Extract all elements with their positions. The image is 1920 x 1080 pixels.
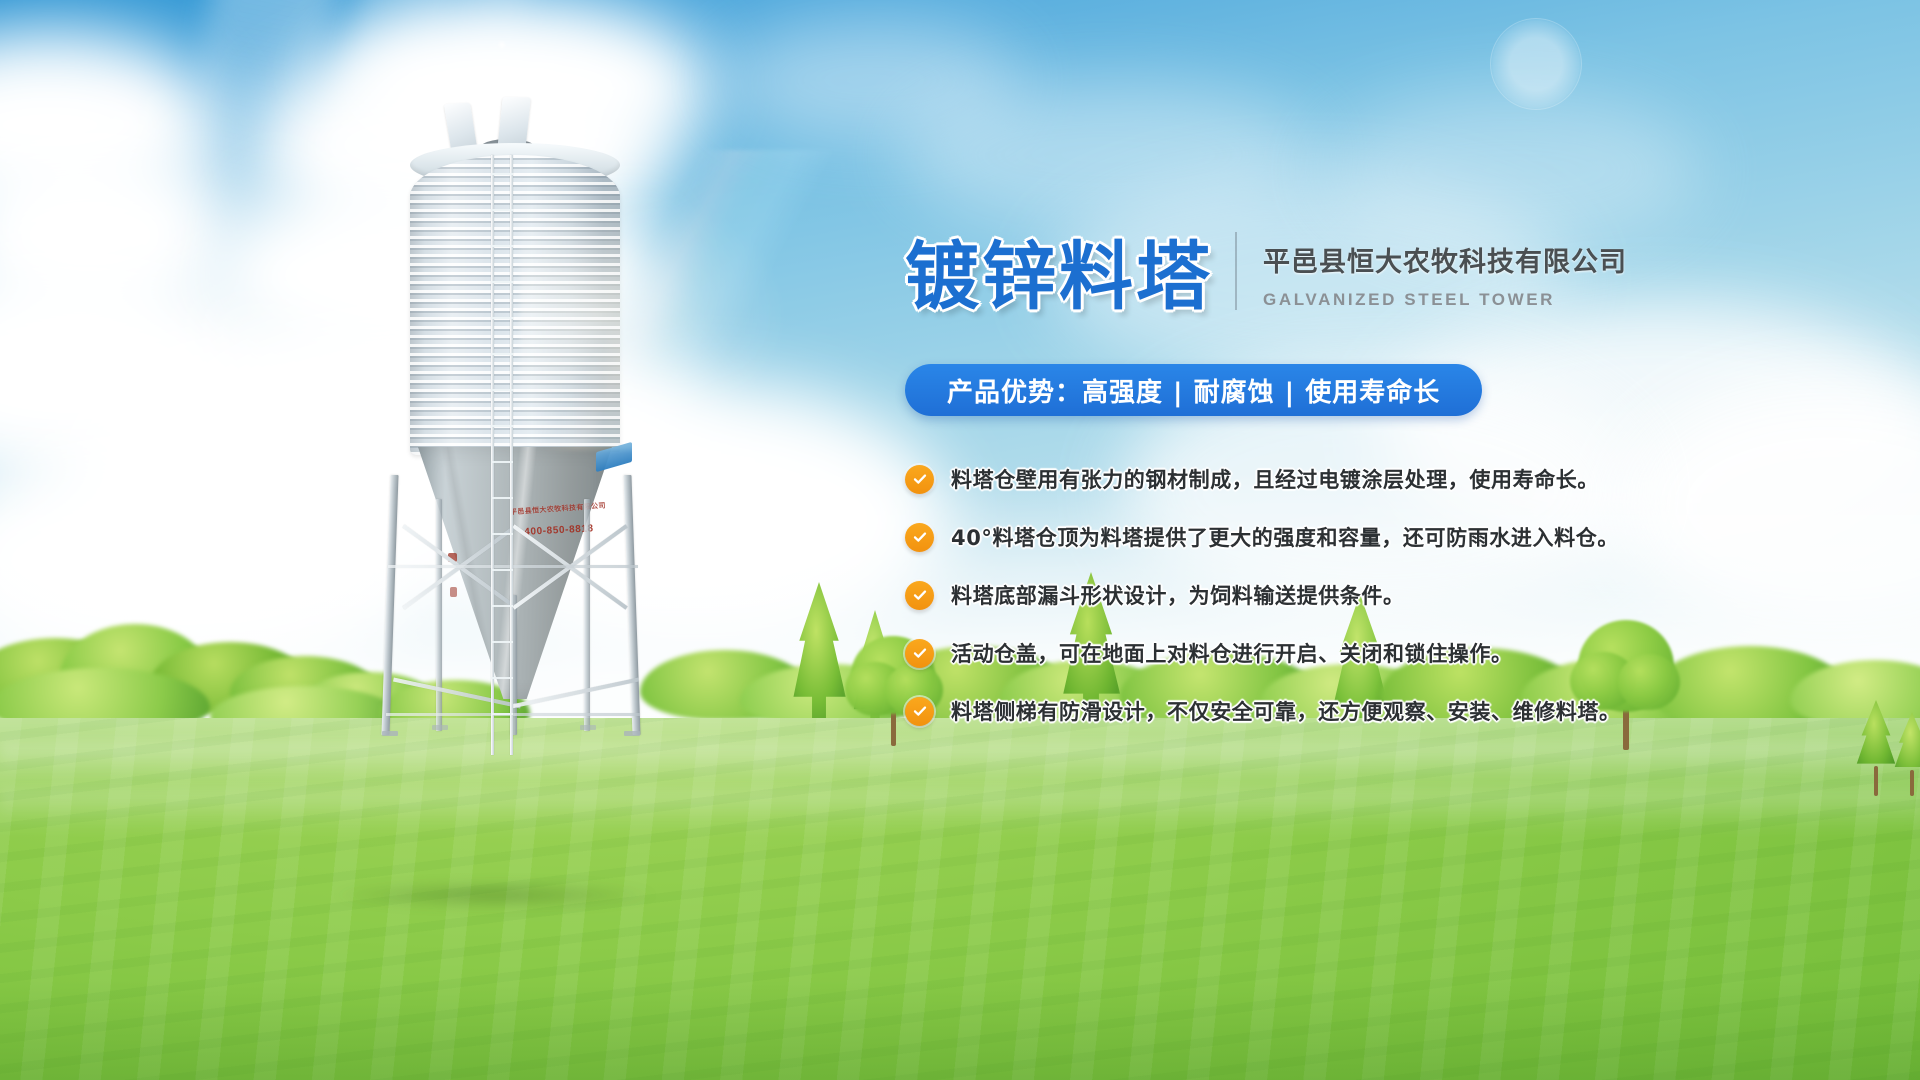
silo-leg-front-left: [381, 475, 398, 735]
feature-item: 活动仓盖，可在地面上对料仓进行开启、关闭和锁住操作。: [905, 638, 1905, 668]
feature-text: 料塔底部漏斗形状设计，为饲料输送提供条件。: [951, 580, 1405, 610]
feature-item: 料塔仓壁用有张力的钢材制成，且经过电镀涂层处理，使用寿命长。: [905, 464, 1905, 494]
feature-text: 料塔侧梯有防滑设计，不仅安全可靠，还方便观察、安装、维修料塔。: [951, 696, 1621, 726]
check-circle-icon: [905, 639, 934, 668]
check-circle-icon: [905, 465, 934, 494]
feature-text: 40°料塔仓顶为料塔提供了更大的强度和容量，还可防雨水进入料仓。: [951, 522, 1619, 552]
silo-access-ladder: [491, 155, 513, 755]
lens-flare-dot: [497, 40, 507, 50]
feature-text: 料塔仓壁用有张力的钢材制成，且经过电镀涂层处理，使用寿命长。: [951, 464, 1599, 494]
silo-drum: [410, 155, 620, 455]
title-row: 镀锌料塔 平邑县恒大农牧科技有限公司 GALVANIZED STEEL TOWE…: [905, 232, 1905, 314]
silo-leg-back-left: [436, 499, 442, 731]
check-circle-icon: [905, 581, 934, 610]
banner-text-panel: 镀锌料塔 平邑县恒大农牧科技有限公司 GALVANIZED STEEL TOWE…: [905, 232, 1905, 726]
silo-leg-back-right: [584, 499, 590, 731]
galvanized-feed-silo: 平邑县恒大农牧科技有限公司 400-850-8818: [370, 95, 660, 745]
feature-item: 料塔底部漏斗形状设计，为饲料输送提供条件。: [905, 580, 1905, 610]
feature-list: 料塔仓壁用有张力的钢材制成，且经过电镀涂层处理，使用寿命长。40°料塔仓顶为料塔…: [905, 464, 1905, 726]
product-advantage-pill[interactable]: 产品优势：高强度 | 耐腐蚀 | 使用寿命长: [905, 364, 1482, 416]
hero-banner: 平邑县恒大农牧科技有限公司 400-850-8818: [0, 0, 1920, 1080]
company-name: 平邑县恒大农牧科技有限公司: [1263, 240, 1627, 279]
page-title: 镀锌料塔: [905, 240, 1213, 314]
check-circle-icon: [905, 523, 934, 552]
check-circle-icon: [905, 697, 934, 726]
silo-corrugation: [410, 155, 620, 455]
silo-ground-shadow: [330, 880, 660, 910]
feature-item: 料塔侧梯有防滑设计，不仅安全可靠，还方便观察、安装、维修料塔。: [905, 696, 1905, 726]
feature-item: 40°料塔仓顶为料塔提供了更大的强度和容量，还可防雨水进入料仓。: [905, 522, 1905, 552]
subtitle-english: GALVANIZED STEEL TOWER: [1263, 290, 1627, 310]
cone-red-marking-2: [450, 587, 457, 597]
title-divider: [1235, 232, 1237, 310]
lens-flare-ring: [1490, 18, 1582, 110]
feature-text: 活动仓盖，可在地面上对料仓进行开启、关闭和锁住操作。: [951, 638, 1513, 668]
